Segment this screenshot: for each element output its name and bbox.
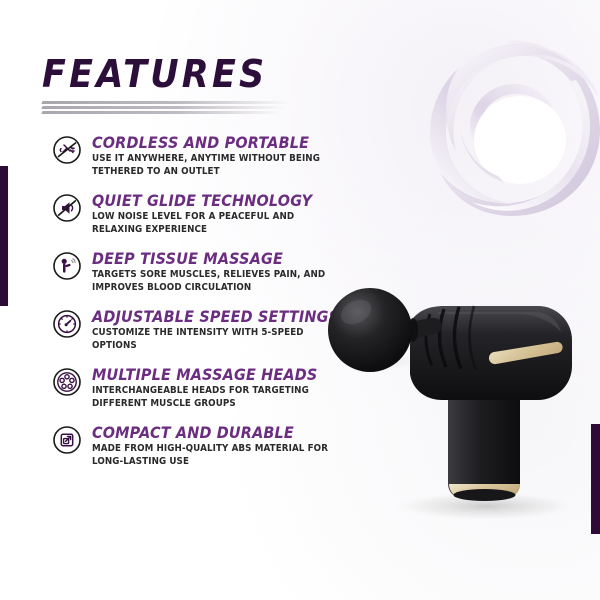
feature-description: LOW NOISE LEVEL FOR A PEACEFUL AND RELAX… xyxy=(92,211,342,236)
feature-description: USE IT ANYWHERE, ANYTIME WITHOUT BEING T… xyxy=(92,153,342,178)
feature-item-quiet: QUIET GLIDE TECHNOLOGY LOW NOISE LEVEL F… xyxy=(52,191,364,236)
speedometer-gauge-icon xyxy=(52,309,82,339)
feature-description: CUSTOMIZE THE INTENSITY WITH 5-SPEED OPT… xyxy=(92,327,345,352)
feature-item-heads: MULTIPLE MASSAGE HEADS INTERCHANGEABLE H… xyxy=(52,365,364,410)
right-accent-bar xyxy=(591,424,600,534)
feature-title: DEEP TISSUE MASSAGE xyxy=(92,250,337,267)
feature-item-speed: ADJUSTABLE SPEED SETTINGS CUSTOMIZE THE … xyxy=(52,307,364,352)
feature-title: MULTIPLE MASSAGE HEADS xyxy=(92,366,337,383)
left-accent-bar xyxy=(0,166,8,306)
title-block: FEATURES xyxy=(42,52,372,117)
compact-resize-icon xyxy=(52,425,82,455)
title-underline-rules xyxy=(42,101,294,117)
feature-description: INTERCHANGEABLE HEADS FOR TARGETING DIFF… xyxy=(92,385,342,410)
features-poster: FEATURES CORDLESS AND PORTABLE USE IT AN… xyxy=(0,0,600,600)
feature-title: ADJUSTABLE SPEED SETTINGS xyxy=(92,308,339,325)
no-cord-plug-icon xyxy=(52,135,82,165)
feature-title: QUIET GLIDE TECHNOLOGY xyxy=(92,192,337,209)
multiple-heads-icon xyxy=(52,367,82,397)
feature-item-cordless: CORDLESS AND PORTABLE USE IT ANYWHERE, A… xyxy=(52,133,364,178)
massage-gun-icon xyxy=(52,251,82,281)
muted-speaker-icon xyxy=(52,193,82,223)
feature-title: CORDLESS AND PORTABLE xyxy=(92,134,337,151)
feature-title: COMPACT AND DURABLE xyxy=(92,424,337,441)
feature-list: CORDLESS AND PORTABLE USE IT ANYWHERE, A… xyxy=(52,133,364,481)
feature-item-compact: COMPACT AND DURABLE MADE FROM HIGH-QUALI… xyxy=(52,423,364,468)
feature-description: MADE FROM HIGH-QUALITY ABS MATERIAL FOR … xyxy=(92,443,342,468)
feature-item-deep-tissue: DEEP TISSUE MASSAGE TARGETS SORE MUSCLES… xyxy=(52,249,364,294)
page-title: FEATURES xyxy=(42,52,346,96)
feature-description: TARGETS SORE MUSCLES, RELIEVES PAIN, AND… xyxy=(92,269,342,294)
